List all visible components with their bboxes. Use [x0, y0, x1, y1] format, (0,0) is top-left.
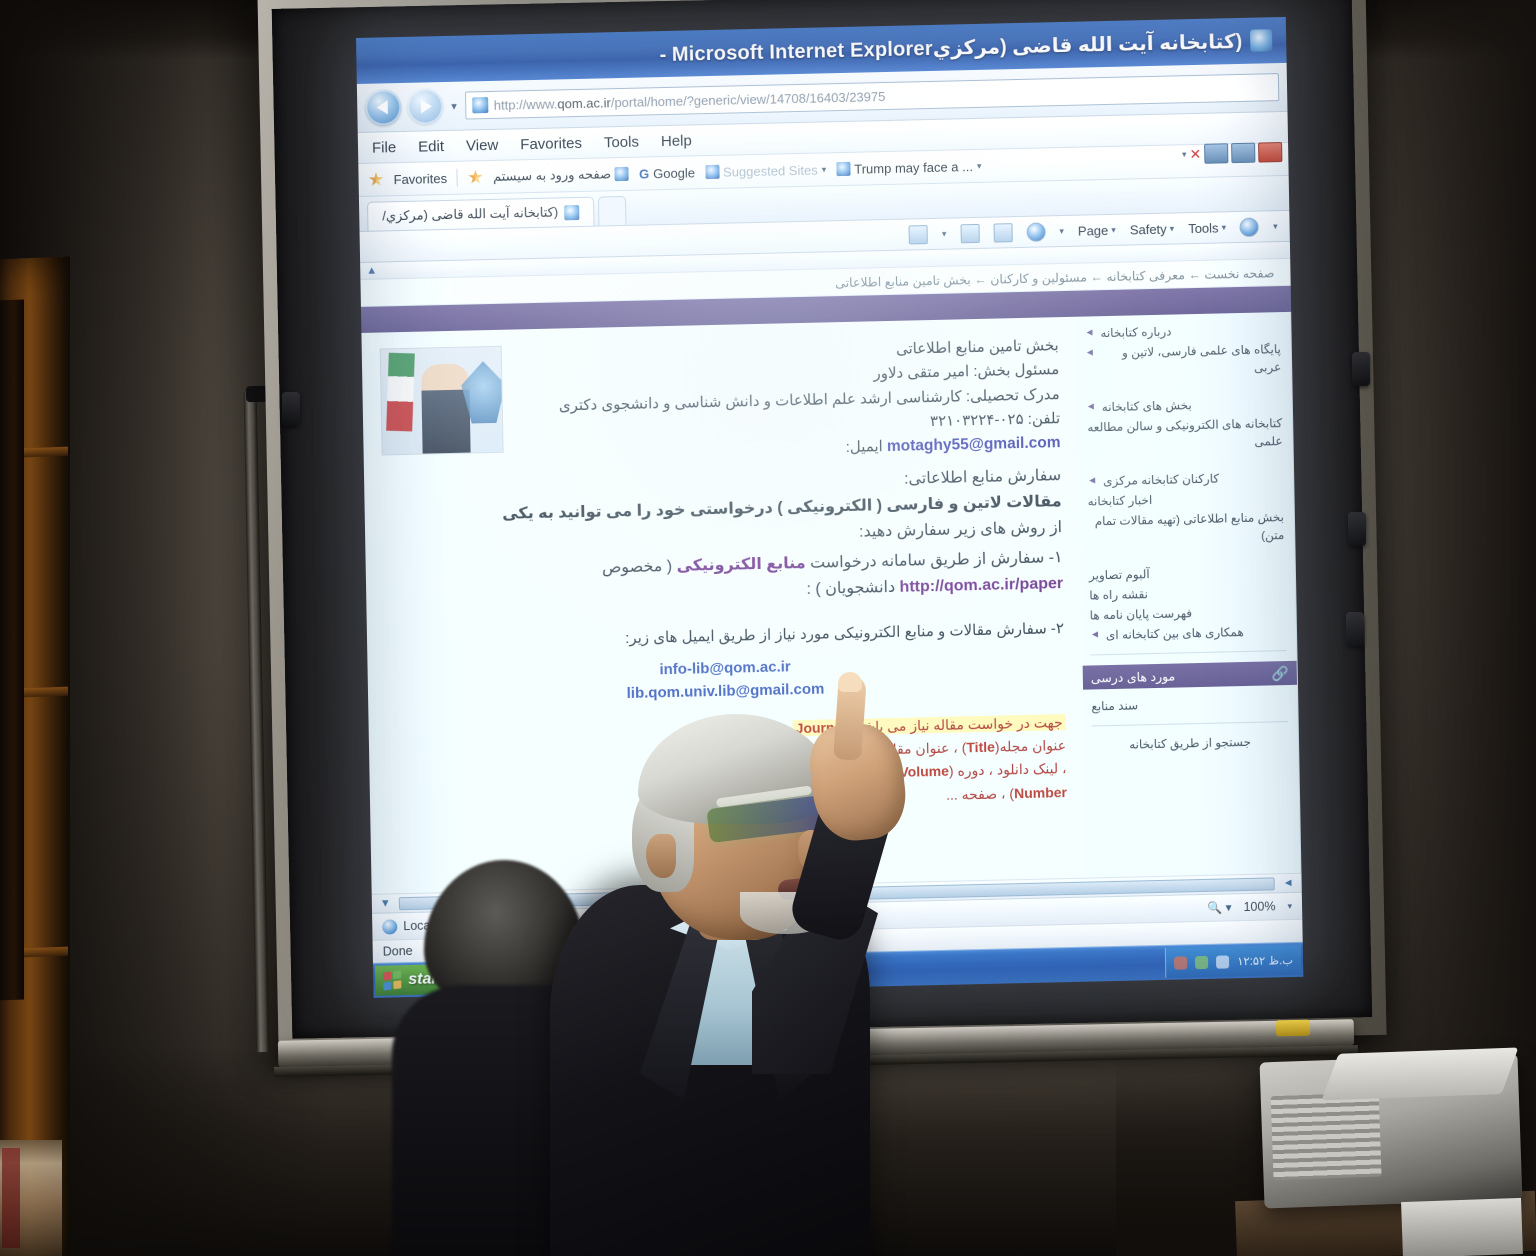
address-bar-text: http://www.qom.ac.ir/portal/home/?generi…: [494, 89, 886, 113]
sidebar-item-theses[interactable]: فهرست پایان نامه ها: [1090, 602, 1286, 624]
email-label: ایمیل:: [846, 438, 883, 456]
read-mail-icon[interactable]: [960, 223, 979, 242]
sidebar-news-label: اخبار کتابخانه: [1087, 491, 1152, 510]
tray-icon-1[interactable]: [1174, 956, 1187, 969]
tab-favicon: [564, 204, 579, 219]
contact-emails-block: info-lib@qom.ac.ir lib.qom.univ.lib@gmai…: [386, 650, 1066, 710]
toolbar-separator: [457, 169, 458, 187]
site-favicon: [472, 97, 488, 113]
taskbar-clock[interactable]: ۱۲:۵۲ ب.ظ: [1237, 953, 1293, 968]
minimize-button[interactable]: [1204, 143, 1228, 164]
tab-title-label: (کتابخانه آیت الله قاضی (مرکزي/: [382, 204, 558, 224]
bookshelf-interior: [0, 300, 24, 1001]
red-book: [2, 1148, 20, 1248]
sidebar-elibraries-label: کتابخانه های الکترونیکی و سالن مطالعه عل…: [1086, 414, 1283, 454]
sidebar-staff-label: کارکنان کتابخانه مرکزی: [1103, 470, 1219, 491]
frame-knob-right-lower: [1348, 512, 1366, 546]
menu-item-file[interactable]: File: [372, 139, 396, 157]
windows-flag-icon: [383, 970, 401, 990]
command-safety-label: Safety: [1130, 221, 1167, 237]
forward-button[interactable]: [407, 88, 444, 125]
command-tools-label: Tools: [1188, 220, 1219, 236]
favorites-star-icon[interactable]: [368, 172, 383, 187]
bullet-icon: ◄: [1087, 472, 1097, 489]
sidebar-item-databases[interactable]: پایگاه های علمی فارسی، لاتین و عربی ◄: [1085, 340, 1282, 380]
presenter-ear: [646, 834, 676, 878]
google-icon: G: [639, 166, 649, 181]
address-bar[interactable]: http://www.qom.ac.ir/portal/home/?generi…: [465, 73, 1280, 119]
tab-library-home[interactable]: (کتابخانه آیت الله قاضی (مرکزي/: [367, 197, 594, 231]
favorite-item-login-page[interactable]: صفحه ورود به سیستم: [493, 166, 629, 185]
favorite-google-label: Google: [653, 165, 695, 181]
menu-item-favorites[interactable]: Favorites: [520, 134, 582, 152]
sidebar-divider-2: [1092, 721, 1288, 726]
system-tray: ۱۲:۵۲ ب.ظ: [1165, 945, 1301, 978]
chevron-down-icon: ▾: [1221, 222, 1226, 233]
presenter-fingertip: [838, 672, 862, 692]
iran-flag: [386, 353, 415, 432]
presenter: [520, 710, 920, 1256]
sidebar-sections-label: بخش های کتابخانه: [1102, 396, 1192, 416]
internet-explorer-icon: [1250, 29, 1272, 51]
sidebar-panel-item-label: سند منابع: [1091, 696, 1138, 715]
chevron-down-icon[interactable]: ▾: [1273, 221, 1278, 232]
feeds-icon[interactable]: [909, 225, 928, 244]
title-label: Title: [966, 739, 995, 756]
menu-item-help[interactable]: Help: [661, 132, 692, 150]
sidebar-item-about-library[interactable]: درباره کتابخانه ◄: [1084, 320, 1280, 342]
method-1-prefix: ۱- سفارش از طریق سامانه درخواست: [810, 550, 1063, 573]
browser-title-rtl: (کتابخانه آیت الله قاضی (مرکزي: [933, 30, 1243, 59]
electronic-resources-link[interactable]: منابع الکترونیکی: [676, 555, 805, 575]
room-scene: (کتابخانه آیت الله قاضی (مرکزي - Microso…: [0, 0, 1536, 1256]
sidebar-panel-title: مورد های درسی: [1091, 668, 1176, 685]
tray-clip-yellow: [1276, 1020, 1310, 1037]
help-icon[interactable]: [1240, 217, 1259, 236]
printer-device: [1260, 1054, 1523, 1209]
bullet-icon: ◄: [1086, 398, 1096, 415]
breadcrumb-text: صفحه نخست ← معرفی کتابخانه ← مسئولین و ک…: [835, 265, 1275, 290]
sidebar-divider: [1090, 650, 1286, 655]
frame-knob-right-bottom: [1346, 612, 1364, 646]
chevron-down-icon[interactable]: ▾: [1287, 900, 1292, 911]
sidebar-databases-label: پایگاه های علمی فارسی، لاتین و عربی: [1101, 340, 1282, 380]
sidebar-theses-label: فهرست پایان نامه ها: [1090, 604, 1193, 624]
security-zone-icon: [382, 919, 397, 934]
sidebar-about-label: درباره کتابخانه: [1100, 323, 1171, 343]
favorite-item-trump[interactable]: Trump may face a ... ▾: [836, 158, 982, 176]
suggested-sites-icon: [705, 165, 719, 179]
favorite-trump-label: Trump may face a ...: [854, 159, 973, 177]
sidebar-gallery-label: آلبوم تصاویر: [1089, 565, 1150, 584]
photo-person: [421, 364, 471, 456]
chevron-down-icon[interactable]: ▾: [1059, 225, 1064, 236]
bullet-icon: ◄: [1084, 324, 1094, 341]
staff-photo: [380, 346, 504, 456]
sidebar-item-maps[interactable]: نقشه راه ها: [1089, 582, 1285, 604]
address-host: qom.ac.ir: [557, 95, 611, 111]
print-icon[interactable]: [993, 223, 1012, 242]
tray-icon-3[interactable]: [1216, 955, 1229, 968]
home-icon[interactable]: [1026, 222, 1045, 241]
field-title-prefix: عنوان مجله(: [995, 737, 1066, 755]
overflow-caret-icon[interactable]: ▾: [1182, 149, 1187, 160]
bullet-icon: ◄: [1090, 626, 1100, 643]
method-1-suffix: ( مخصوص: [602, 558, 672, 577]
white-box-object: [1401, 1198, 1523, 1256]
zoom-magnifier-icon[interactable]: 🔍 ▾: [1207, 900, 1232, 915]
sidebar-cooperation-label: همکاری های بین کتابخانه ای: [1106, 623, 1244, 644]
chevron-down-icon[interactable]: ▾: [822, 164, 827, 175]
favorite-login-label: صفحه ورود به سیستم: [493, 166, 611, 185]
page-sidebar: درباره کتابخانه ◄ پایگاه های علمی فارسی،…: [1076, 312, 1301, 878]
sidebar-resources-label: بخش منابع اطلاعاتی (تهیه مقالات تمام متن…: [1088, 508, 1285, 548]
sidebar-item-gallery[interactable]: آلبوم تصاویر: [1089, 562, 1285, 584]
sidebar-maps-label: نقشه راه ها: [1089, 585, 1148, 604]
command-tools-menu[interactable]: Tools ▾: [1188, 220, 1226, 236]
chevron-down-icon: ▾: [1170, 223, 1175, 234]
status-bar-right: 🔍 ▾ 100% ▾: [1207, 899, 1292, 915]
add-favorite-star-icon[interactable]: [468, 170, 483, 185]
new-tab-button[interactable]: [598, 196, 627, 226]
sidebar-item-elibraries[interactable]: کتابخانه های الکترونیکی و سالن مطالعه عل…: [1086, 414, 1283, 454]
back-button[interactable]: [365, 89, 402, 126]
address-path: /portal/home/?generic/view/14708/16403/2…: [611, 89, 886, 110]
address-protocol: http://www.: [494, 96, 558, 112]
chevron-down-icon: ▾: [1111, 224, 1116, 235]
favorite-item-google[interactable]: G Google: [639, 165, 695, 181]
browser-title-text: (کتابخانه آیت الله قاضی (مرکزي - Microso…: [654, 28, 1243, 66]
chevron-left-icon[interactable]: ◄: [1283, 877, 1294, 889]
field-number-suffix: ) ، صفحه ...: [946, 785, 1014, 803]
sidebar-item-cooperation[interactable]: همکاری های بین کتابخانه ای ◄: [1090, 622, 1286, 644]
page-icon: [836, 162, 850, 176]
page-status-text: Done: [383, 944, 413, 959]
browser-title-suffix: - Microsoft Internet Explorer: [654, 37, 933, 65]
page-icon: [615, 167, 629, 181]
bullet-icon: ◄: [1085, 344, 1095, 361]
method-1-students-note: دانشجویان ) :: [806, 579, 895, 598]
command-page-label: Page: [1078, 222, 1109, 238]
favorites-button-label[interactable]: Favorites: [393, 170, 447, 186]
sidebar-panel-header: 🔗 مورد های درسی: [1083, 661, 1297, 690]
favorite-suggested-label: Suggested Sites: [723, 162, 818, 179]
favorite-item-suggested-sites[interactable]: Suggested Sites ▾: [705, 162, 826, 180]
paperclip-icon: 🔗: [1271, 665, 1289, 682]
paper-portal-link[interactable]: http://qom.ac.ir/paper: [899, 575, 1063, 596]
printer-vents: [1271, 1092, 1382, 1180]
field-volume-prefix: ، لینک دانلود ، دوره (: [949, 761, 1067, 780]
sidebar-item-sections[interactable]: بخش های کتابخانه ◄: [1086, 394, 1282, 416]
close-tab-icon[interactable]: ✕: [1189, 145, 1201, 162]
chevron-down-icon[interactable]: ▾: [977, 160, 982, 171]
number-label: Number: [1014, 784, 1067, 801]
command-safety-menu[interactable]: Safety ▾: [1130, 221, 1175, 237]
command-page-menu[interactable]: Page ▾: [1078, 222, 1116, 238]
sidebar-panel-item[interactable]: سند منابع: [1091, 693, 1287, 715]
sidebar-search-label: جستجو از طریق کتابخانه: [1129, 733, 1251, 754]
chevron-up-icon: ▲: [366, 265, 377, 277]
sidebar-item-resources[interactable]: بخش منابع اطلاعاتی (تهیه مقالات تمام متن…: [1088, 508, 1285, 548]
printer-paper-tray: [1322, 1048, 1519, 1101]
zoom-level-label[interactable]: 100%: [1243, 899, 1275, 914]
contact-email-link[interactable]: motaghy55@gmail.com: [887, 434, 1061, 455]
menu-item-view[interactable]: View: [466, 136, 499, 154]
sidebar-search-link[interactable]: جستجو از طریق کتابخانه: [1092, 732, 1288, 754]
menu-item-tools[interactable]: Tools: [604, 133, 639, 151]
sidebar-item-news[interactable]: اخبار کتابخانه: [1087, 488, 1283, 510]
frame-knob-top-left: [282, 392, 300, 426]
window-controls: ▾ ✕: [1182, 142, 1283, 164]
chevron-down-icon[interactable]: ▼: [380, 897, 391, 909]
recent-pages-caret-icon[interactable]: ▾: [451, 99, 457, 112]
sidebar-item-staff[interactable]: کارکنان کتابخانه مرکزی ◄: [1087, 468, 1283, 490]
maximize-button[interactable]: [1231, 143, 1255, 164]
tray-icon-2[interactable]: [1195, 955, 1208, 968]
close-button[interactable]: [1258, 142, 1282, 163]
chevron-down-icon[interactable]: ▾: [942, 228, 947, 239]
frame-knob-right-upper: [1352, 352, 1370, 386]
menu-item-edit[interactable]: Edit: [418, 138, 444, 156]
